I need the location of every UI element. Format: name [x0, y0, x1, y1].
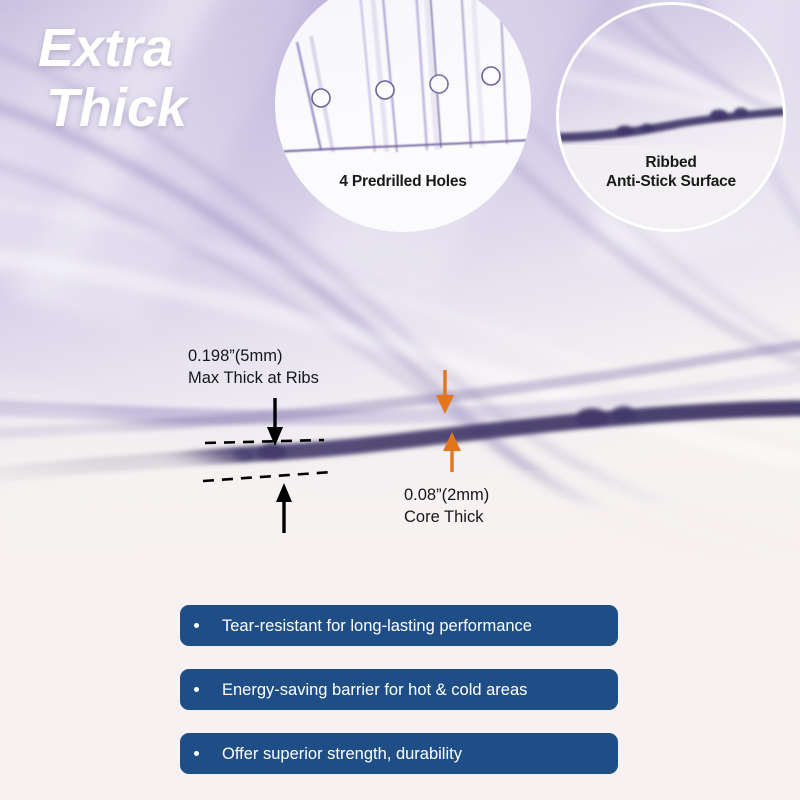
feature-bullet-item: Energy-saving barrier for hot & cold are…	[180, 669, 618, 710]
label-max-thick-line-1: 0.198”(5mm)	[188, 345, 319, 367]
callout-ribbed-photo	[559, 5, 783, 229]
page-title: Extra Thick	[38, 18, 187, 138]
feature-bullet-list: Tear-resistant for long-lasting performa…	[180, 605, 618, 797]
infographic-page: Extra Thick	[0, 0, 800, 800]
callout-ribbed-caption-line-2: Anti-Stick Surface	[559, 172, 783, 191]
feature-bullet-text: Offer superior strength, durability	[222, 744, 462, 764]
callout-ribbed-caption-line-1: Ribbed	[559, 153, 783, 172]
callout-ribbed-surface: Ribbed Anti-Stick Surface	[556, 2, 786, 232]
title-line-2: Thick	[38, 78, 187, 138]
bullet-dot-icon	[194, 687, 199, 692]
label-core-thick: 0.08”(2mm) Core Thick	[404, 484, 489, 528]
bullet-dot-icon	[194, 623, 199, 628]
label-core-thick-line-1: 0.08”(2mm)	[404, 484, 489, 506]
feature-bullet-item: Offer superior strength, durability	[180, 733, 618, 774]
label-max-thick: 0.198”(5mm) Max Thick at Ribs	[188, 345, 319, 389]
feature-bullet-text: Energy-saving barrier for hot & cold are…	[222, 680, 527, 700]
callout-holes-caption: 4 Predrilled Holes	[275, 172, 531, 191]
feature-bullet-item: Tear-resistant for long-lasting performa…	[180, 605, 618, 646]
label-max-thick-line-2: Max Thick at Ribs	[188, 367, 319, 389]
callout-ribbed-caption: Ribbed Anti-Stick Surface	[559, 153, 783, 191]
feature-bullet-text: Tear-resistant for long-lasting performa…	[222, 616, 532, 636]
bullet-dot-icon	[194, 751, 199, 756]
title-line-1: Extra	[38, 18, 173, 78]
label-core-thick-line-2: Core Thick	[404, 506, 489, 528]
